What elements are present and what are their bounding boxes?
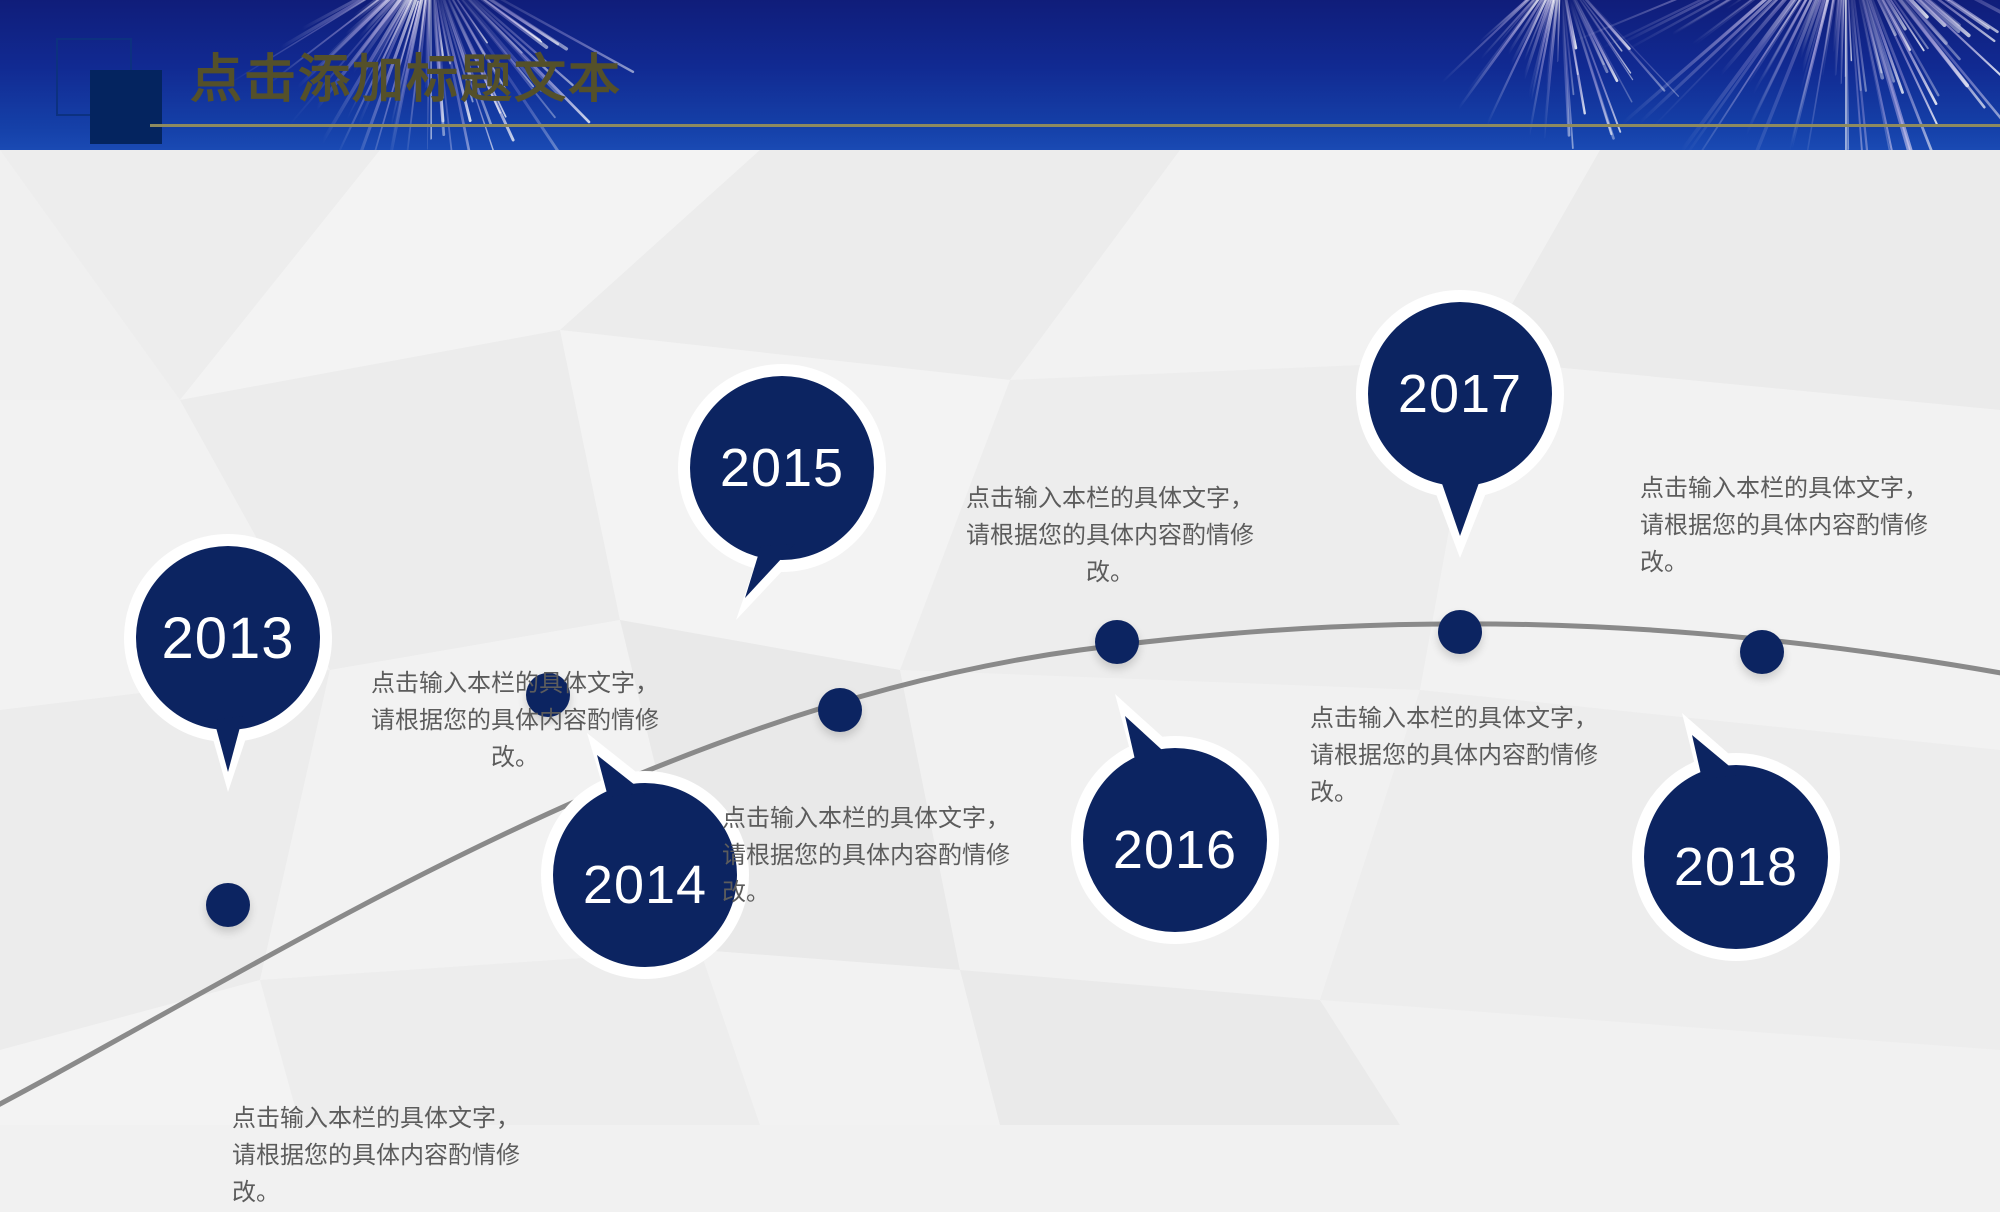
milestone-note-2013: 点击输入本栏的具体文字，请根据您的具体内容酌情修改。 [232,1100,532,1212]
timeline-dot-2018[interactable] [1740,630,1784,674]
milestone-note-2017: 点击输入本栏的具体文字，请根据您的具体内容酌情修改。 [1640,470,1940,582]
timeline-dot-2015[interactable] [818,688,862,732]
milestone-note-2018: 点击输入本栏的具体文字，请根据您的具体内容酌情修改。 [965,480,1255,592]
header-square-filled [90,70,162,144]
milestone-balloon-2018[interactable]: 2018 [1586,697,1886,997]
page-title: 点击添加标题文本 [190,37,622,112]
milestone-note-2015: 点击输入本栏的具体文字，请根据您的具体内容酌情修改。 [365,665,665,777]
milestone-note-2014: 点击输入本栏的具体文字，请根据您的具体内容酌情修改。 [722,800,1022,912]
timeline-dot-2016[interactable] [1095,620,1139,664]
slide-header: 点击添加标题文本 [0,0,2000,150]
milestone-balloon-2015[interactable]: 2015 [632,340,932,660]
timeline-dot-2017[interactable] [1438,610,1482,654]
milestone-balloon-2013[interactable]: 2013 [110,520,346,820]
timeline-stage: 2013 2014 2015 2016 [0,150,2000,1125]
milestone-balloon-2016[interactable]: 2016 [1025,680,1325,980]
milestone-balloon-2017[interactable]: 2017 [1310,270,1610,590]
header-divider-rule [150,124,2000,127]
milestone-note-2016: 点击输入本栏的具体文字，请根据您的具体内容酌情修改。 [1310,700,1610,812]
timeline-dot-2013[interactable] [206,883,250,927]
